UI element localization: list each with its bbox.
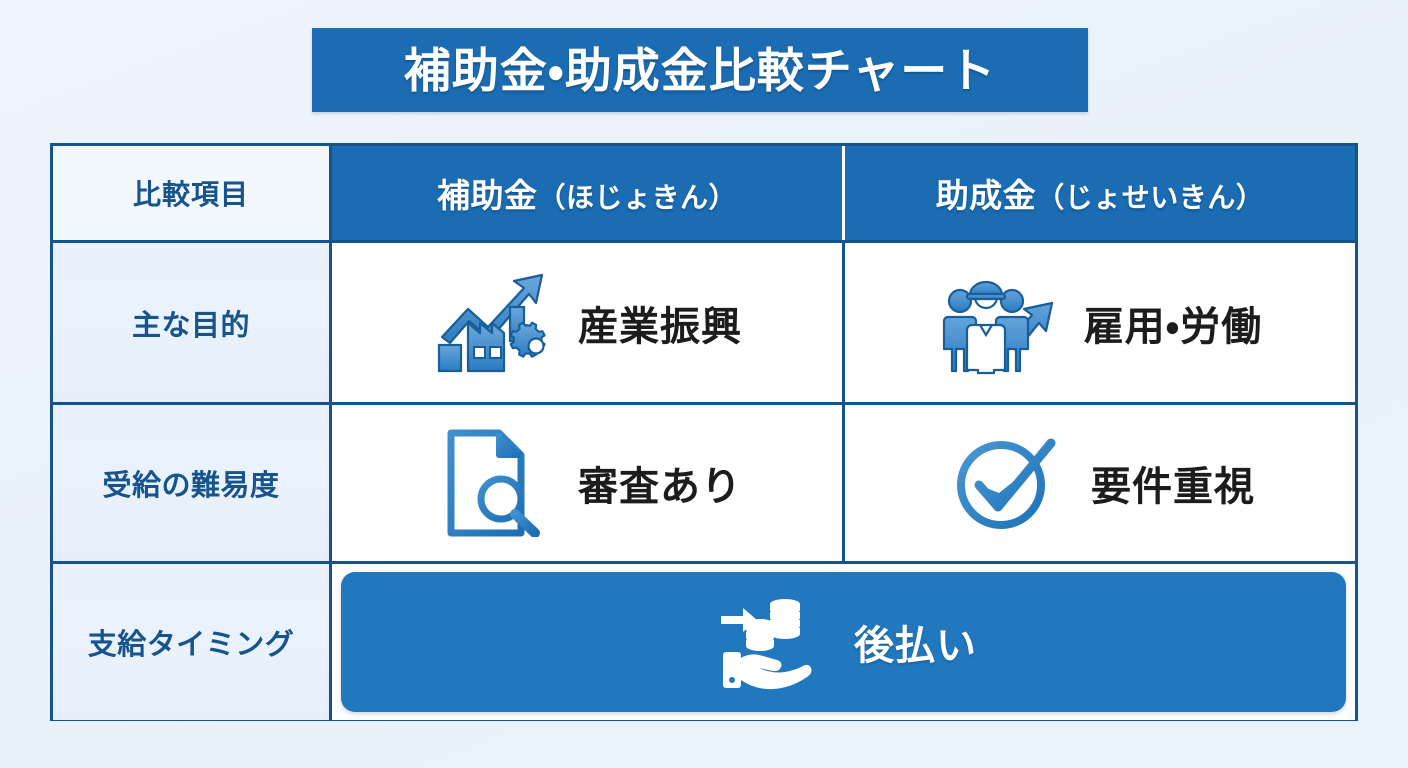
cell-value-text: 後払い [854,613,977,671]
header-label-grant: 助成金（じょせいきん） [936,169,1265,217]
table-row: 主な目的 [53,243,1355,402]
header-cell-subsidy: 補助金（ほじょきん） [332,146,845,240]
page-title: 補助金・助成金比較チャート [404,47,997,94]
header-label-subsidy: 補助金（ほじょきん） [437,169,737,217]
header-label-grant-main: 助成金 [936,177,1037,214]
document-magnifier-icon [432,427,554,539]
cell-subsidy-difficulty: 審査あり [332,405,845,561]
payment-timing-highlight: 後払い [341,572,1346,712]
table-row: 支給タイミング [53,561,1355,720]
row-label-text: 受給の難易度 [102,462,279,504]
cell-value-text: 産業振興 [578,294,742,352]
cell-grant-purpose: 雇用・労働 [845,243,1355,402]
row-label-purpose: 主な目的 [53,243,332,402]
cell-value-text: 要件重視 [1091,454,1255,512]
header-label-subsidy-main: 補助金 [437,177,538,214]
header-cell-grant: 助成金（じょせいきん） [845,146,1355,240]
cell-merged-timing: 後払い [332,564,1355,720]
header-cell-comparison-item: 比較項目 [53,146,332,240]
circle-check-icon [945,427,1067,539]
table-row: 受給の難易度 [53,402,1355,561]
row-label-timing: 支給タイミング [53,564,332,720]
hand-coins-icon [710,586,832,698]
cell-subsidy-purpose: 産業振興 [332,243,845,402]
header-label-grant-kana: （じょせいきん） [1036,182,1264,213]
comparison-table: 比較項目 補助金（ほじょきん） 助成金（じょせいきん） 主な目的 [50,143,1358,721]
factory-growth-icon [432,267,554,379]
table-header-row: 比較項目 補助金（ほじょきん） 助成金（じょせいきん） [53,146,1355,243]
header-label-comparison-item: 比較項目 [133,173,249,213]
cell-value-text: 雇用・労働 [1084,294,1263,352]
cell-value-text: 審査あり [578,454,742,512]
cell-grant-difficulty: 要件重視 [845,405,1355,561]
row-label-text: 支給タイミング [88,621,295,663]
workers-group-icon [938,267,1060,379]
row-label-difficulty: 受給の難易度 [53,405,332,561]
row-label-text: 主な目的 [132,302,250,344]
header-label-subsidy-kana: （ほじょきん） [537,182,737,213]
page-title-banner: 補助金・助成金比較チャート [312,28,1088,112]
